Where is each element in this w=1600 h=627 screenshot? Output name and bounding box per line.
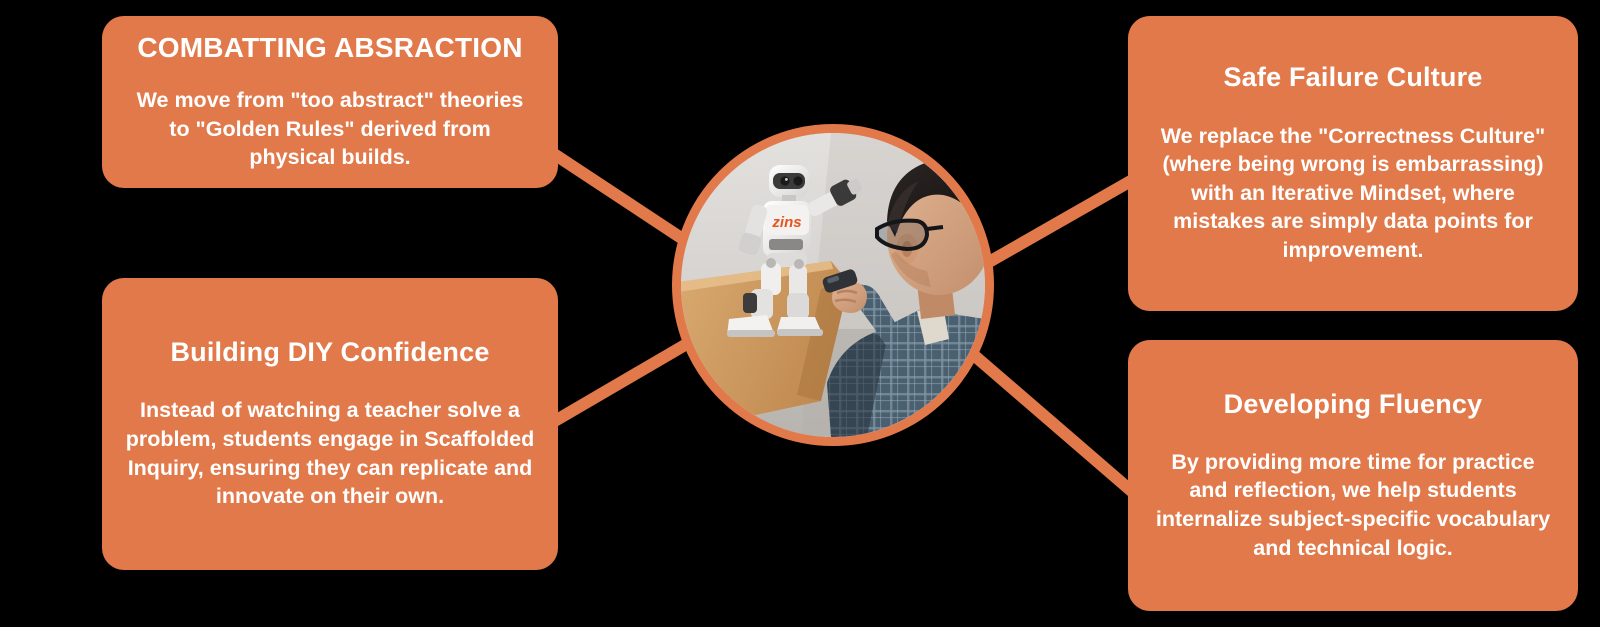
center-photo-circle: zins [672, 124, 994, 446]
card-combatting-abstraction[interactable]: COMBATTING ABSRACTION We move from "too … [102, 16, 558, 188]
svg-text:zins: zins [771, 214, 801, 231]
card-body-abstraction: We move from "too abstract" theories to … [124, 86, 536, 172]
card-developing-fluency[interactable]: Developing Fluency By providing more tim… [1128, 340, 1578, 611]
card-title-fluency: Developing Fluency [1224, 389, 1483, 420]
card-body-failure: We replace the "Correctness Culture" (wh… [1150, 122, 1556, 265]
card-body-fluency: By providing more time for practice and … [1150, 448, 1556, 562]
center-photo-clip: zins [681, 133, 985, 437]
card-safe-failure-culture[interactable]: Safe Failure Culture We replace the "Cor… [1128, 16, 1578, 311]
robotics-classroom-photo: zins [681, 133, 985, 437]
card-title-abstraction: COMBATTING ABSRACTION [137, 32, 522, 64]
diagram-canvas: zins [0, 0, 1600, 627]
card-building-diy-confidence[interactable]: Building DIY Confidence Instead of watch… [102, 278, 558, 570]
card-title-diy: Building DIY Confidence [170, 337, 489, 368]
card-body-diy: Instead of watching a teacher solve a pr… [124, 396, 536, 510]
card-title-failure: Safe Failure Culture [1223, 62, 1482, 93]
